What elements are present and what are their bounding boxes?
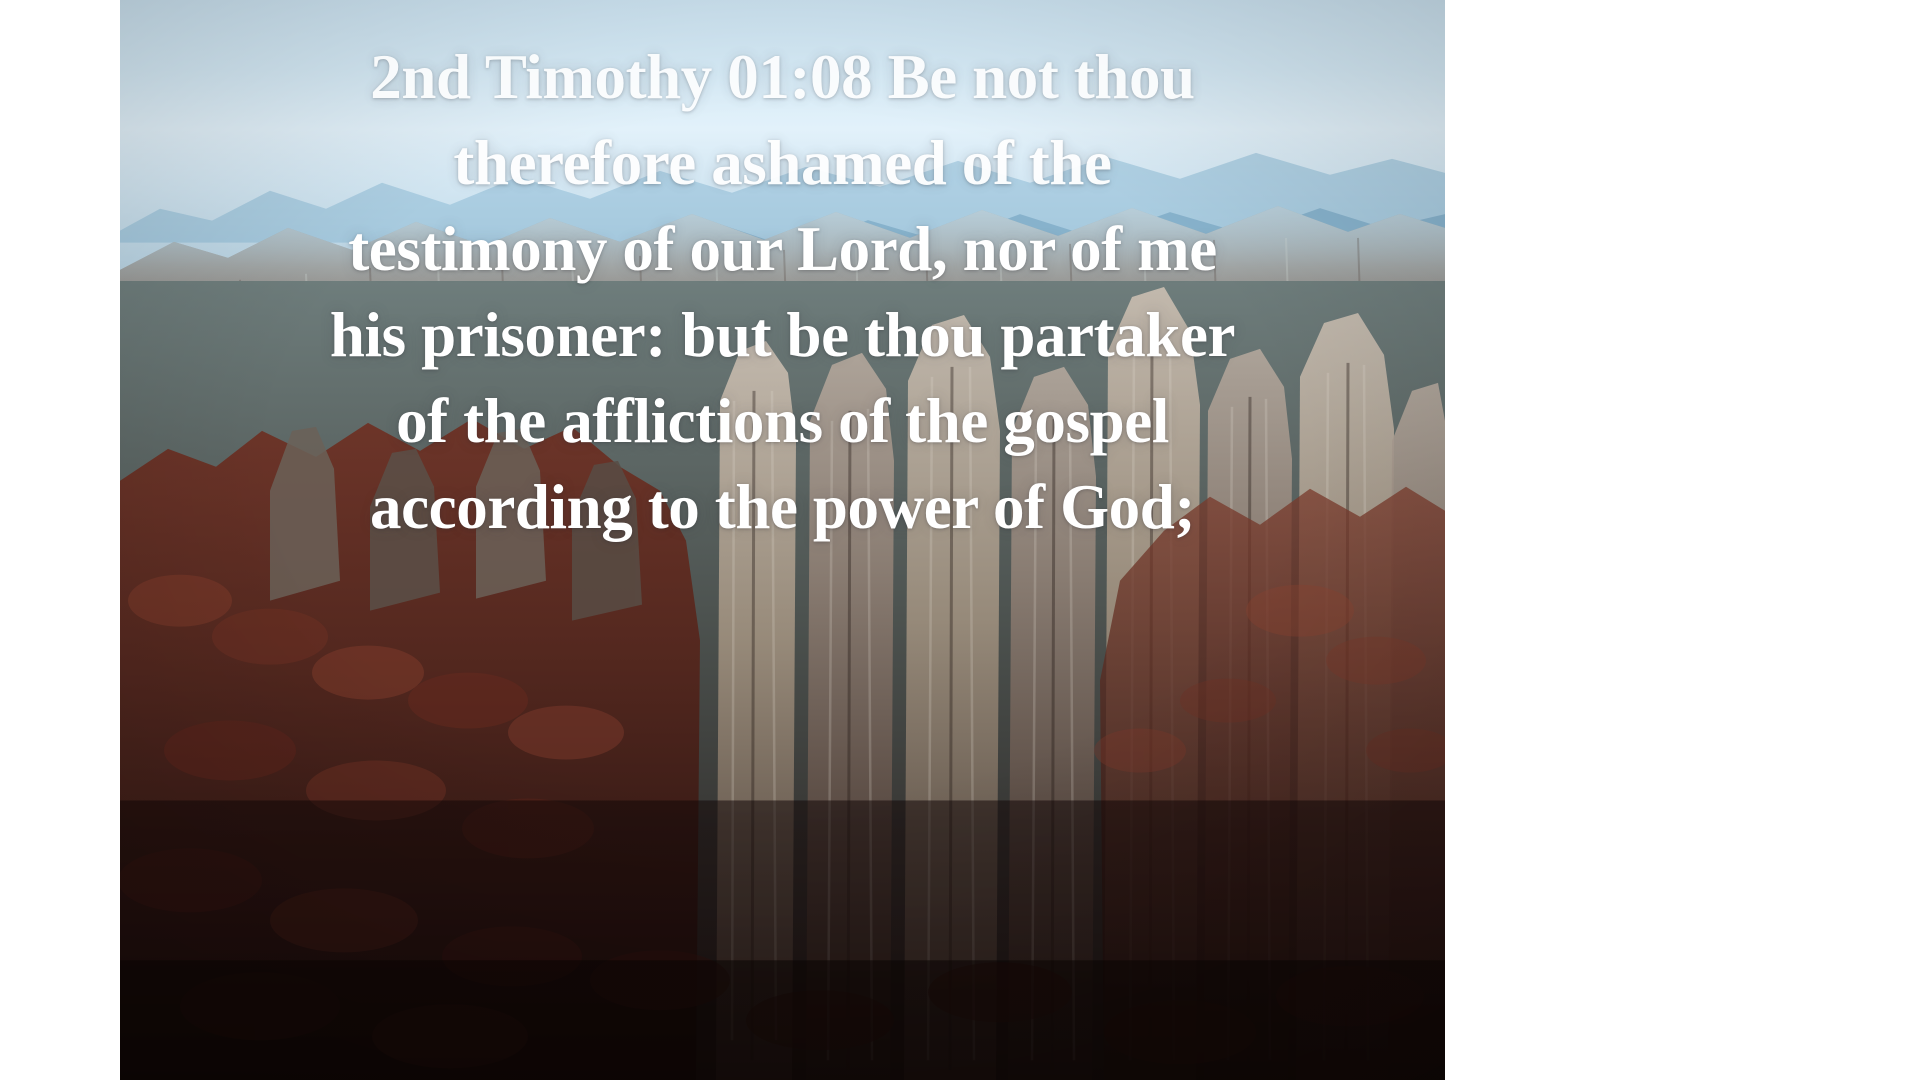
- right-white-margin: [1445, 0, 1920, 1080]
- verse-line-4: his prisoner: but be thou partaker: [160, 292, 1405, 378]
- verse-line-2: therefore ashamed of the: [160, 120, 1405, 206]
- background-photo: 2nd Timothy 01:08 Be not thou therefore …: [120, 0, 1445, 1080]
- verse-line-5: of the afflictions of the gospel: [160, 378, 1405, 464]
- verse-image-page: 2nd Timothy 01:08 Be not thou therefore …: [0, 0, 1920, 1080]
- left-white-margin: [0, 0, 120, 1080]
- verse-line-6: according to the power of God;: [160, 464, 1405, 550]
- verse-text-block: 2nd Timothy 01:08 Be not thou therefore …: [120, 34, 1445, 550]
- verse-line-3: testimony of our Lord, nor of me: [160, 206, 1405, 292]
- verse-line-1: 2nd Timothy 01:08 Be not thou: [160, 34, 1405, 120]
